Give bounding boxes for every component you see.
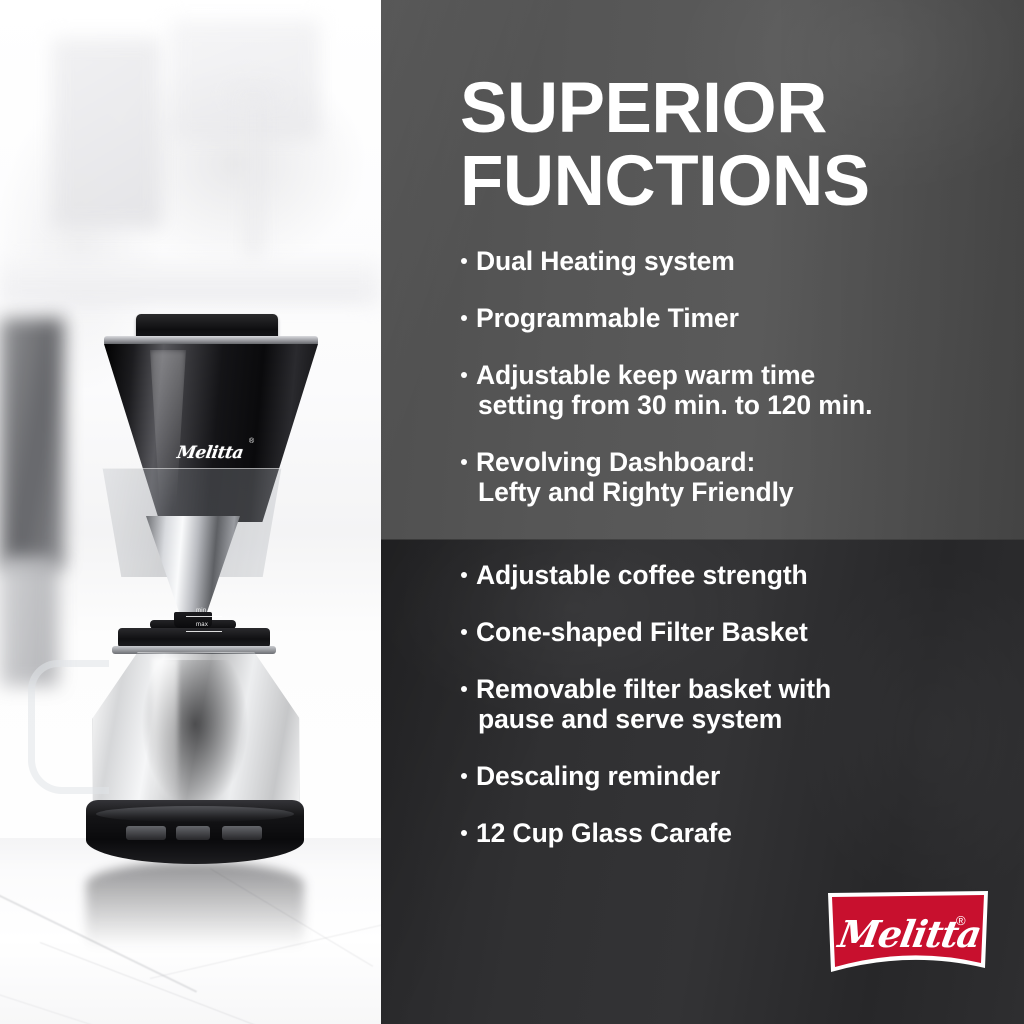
page-title-line-2: FUNCTIONS (460, 145, 1020, 218)
list-item: 12 Cup Glass Carafe (459, 818, 1019, 848)
list-item-line-1: Removable filter basket with (476, 674, 831, 704)
melitta-logo: Melitta ® (825, 888, 991, 986)
list-item-line-1: Programmable Timer (476, 303, 739, 333)
feature-list-secondary: Adjustable coffee strength Cone-shaped F… (459, 560, 1019, 875)
list-item: Removable filter basket with pause and s… (459, 674, 1019, 734)
feature-list-primary: Dual Heating system Programmable Timer A… (459, 246, 1019, 534)
coffee-maker-product-image: Melitta ® min max (0, 0, 381, 1024)
page-title: SUPERIOR FUNCTIONS (460, 72, 1020, 218)
carafe-handle (28, 660, 109, 794)
list-item-line-1: Descaling reminder (476, 761, 720, 791)
list-item-line-1: Cone-shaped Filter Basket (476, 617, 808, 647)
list-item: Programmable Timer (459, 303, 1019, 333)
base-control-button[interactable] (176, 826, 210, 840)
list-item: Dual Heating system (459, 246, 1019, 276)
carafe-min-line (186, 616, 222, 617)
carafe-max-label: max (196, 622, 208, 629)
list-item-line-1: Dual Heating system (476, 246, 735, 276)
base-control-button[interactable] (222, 826, 262, 840)
list-item: Adjustable coffee strength (459, 560, 1019, 590)
base-control-button[interactable] (126, 826, 166, 840)
carafe-interior-shadow (120, 660, 270, 820)
product-reflection (86, 862, 304, 948)
list-item: Descaling reminder (459, 761, 1019, 791)
page-title-line-1: SUPERIOR (460, 72, 1020, 145)
product-brand-trademark-icon: ® (249, 438, 254, 445)
list-item: Cone-shaped Filter Basket (459, 617, 1019, 647)
base-warming-ring (96, 806, 294, 822)
marketing-banner: Melitta ® min max (0, 0, 1024, 1024)
carafe-max-line (186, 631, 222, 632)
product-brand-mark: Melitta (158, 440, 262, 466)
list-item-line-2: setting from 30 min. to 120 min. (476, 390, 1019, 420)
list-item-line-2: Lefty and Righty Friendly (476, 477, 1019, 507)
list-item: Revolving Dashboard: Lefty and Righty Fr… (459, 447, 1019, 507)
product-photo-panel: Melitta ® min max (0, 0, 381, 1024)
list-item-line-1: Adjustable coffee strength (476, 560, 808, 590)
list-item-line-2: pause and serve system (476, 704, 1019, 734)
melitta-logo-wordmark: Melitta (835, 910, 961, 958)
carafe-highlight (152, 658, 178, 808)
registered-trademark-icon: ® (956, 914, 966, 927)
list-item: Adjustable keep warm time setting from 3… (459, 360, 1019, 420)
features-panel: SUPERIOR FUNCTIONS Dual Heating system P… (381, 0, 1024, 1024)
carafe-min-label: min (196, 608, 207, 615)
list-item-line-1: Adjustable keep warm time (476, 360, 815, 390)
list-item-line-1: 12 Cup Glass Carafe (476, 818, 732, 848)
list-item-line-1: Revolving Dashboard: (476, 447, 755, 477)
